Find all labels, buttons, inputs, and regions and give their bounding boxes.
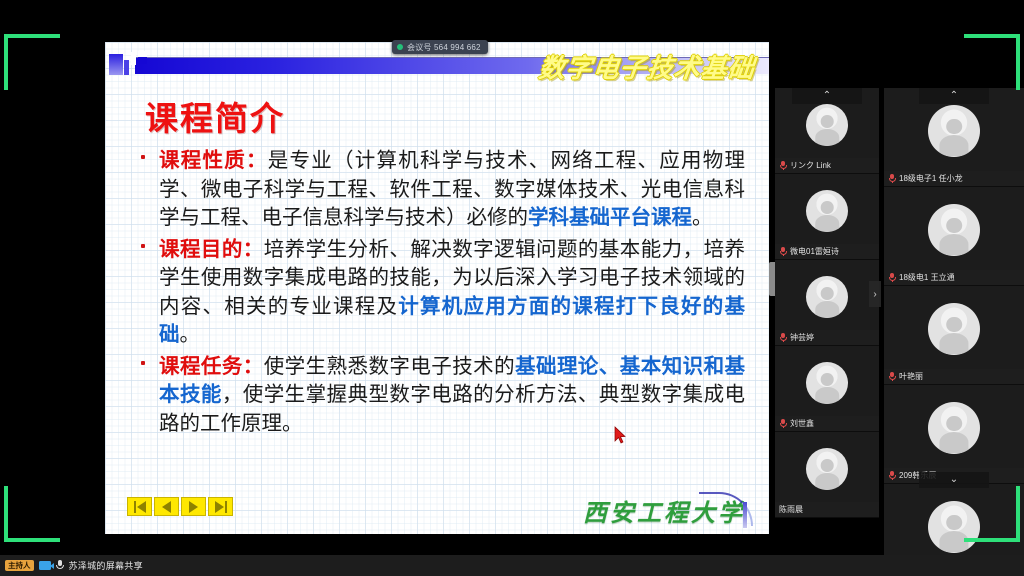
microphone-icon[interactable] [56, 560, 64, 571]
participant-nameplate: 陈雨晨 [775, 502, 879, 517]
bullet-item: 课程性质：是专业（计算机科学与技术、网络工程、应用物理学、微电子科学与工程、软件… [135, 146, 745, 232]
share-frame-corner-top-left [4, 34, 60, 90]
avatar [928, 402, 980, 454]
bullet-item: 课程任务：使学生熟悉数字电子技术的基础理论、基本知识和基本技能，使学生掌握典型数… [135, 352, 745, 438]
participant-strip-right: ⌃ 18级电子1 任小龙 18级电1 王立通 叶艳丽 [884, 88, 1024, 488]
bullet-text: 课程任务：使学生熟悉数字电子技术的基础理论、基本知识和基本技能，使学生掌握典型数… [159, 352, 745, 438]
participant-tile[interactable]: 微电01雷姮诗 [775, 174, 879, 260]
slide-navigation[interactable] [127, 497, 233, 516]
participant-nameplate: 刘世鑫 [775, 416, 879, 431]
meeting-screen-share-window: 会议号 564 994 662 数字电子技术基础 课程简介 课程性质：是专业（计… [0, 0, 1024, 576]
logo-swoosh-bar [743, 502, 747, 528]
scroll-next-button[interactable]: › [869, 281, 881, 307]
participant-tile[interactable]: 刘世鑫 [775, 346, 879, 432]
host-badge: 主持人 [5, 560, 34, 571]
participant-name: 叶艳丽 [899, 371, 923, 382]
participant-tile[interactable]: 18级电1 王立通 [884, 187, 1024, 286]
scroll-up-button[interactable]: ⌃ [792, 88, 862, 104]
participant-name: 微电01雷姮诗 [790, 246, 839, 257]
bullet-dot-icon [141, 244, 145, 248]
participant-tile[interactable]: 209韩乐辰 [884, 385, 1024, 484]
participant-nameplate: 叶艳丽 [884, 369, 1024, 384]
participant-name: リンク Link [790, 160, 831, 171]
microphone-muted-icon [779, 333, 787, 342]
participant-strip-left: ⌃ › リンク Link 微电01雷姮诗 钟芸婷 [775, 88, 879, 478]
share-frame-corner-bottom-left [4, 486, 60, 542]
microphone-muted-icon [779, 161, 787, 170]
avatar [806, 104, 848, 146]
status-bar: 主持人 苏泽城的屏幕共享 [0, 555, 1024, 576]
participant-tile[interactable]: 叶艳丽 [884, 286, 1024, 385]
participant-nameplate: 钟芸婷 [775, 330, 879, 345]
camera-icon[interactable] [39, 561, 51, 570]
participant-name: 18级电子1 任小龙 [899, 173, 963, 184]
meeting-id-pill[interactable]: 会议号 564 994 662 [392, 40, 488, 54]
first-slide-button[interactable] [127, 497, 152, 516]
bullet-dot-icon [141, 155, 145, 159]
avatar [806, 276, 848, 318]
presenter-pointer-icon [613, 426, 627, 444]
avatar [806, 190, 848, 232]
university-logo: 西安工程大学 [583, 493, 745, 528]
participant-name: 18级电1 王立通 [899, 272, 955, 283]
participant-tile[interactable]: 陈雨晨 [775, 432, 879, 518]
participant-tile[interactable]: 钟芸婷 [775, 260, 879, 346]
participant-name: 钟芸婷 [790, 332, 814, 343]
participant-nameplate: 18级电1 王立通 [884, 270, 1024, 285]
share-frame-corner-top-right [964, 34, 1020, 90]
microphone-muted-icon [779, 419, 787, 428]
microphone-muted-icon [888, 372, 896, 381]
avatar [928, 204, 980, 256]
shared-slide: 数字电子技术基础 课程简介 课程性质：是专业（计算机科学与技术、网络工程、应用物… [105, 42, 769, 534]
course-title-wordart: 数字电子技术基础 [537, 48, 757, 85]
previous-slide-button[interactable] [154, 497, 179, 516]
bullet-text: 课程性质：是专业（计算机科学与技术、网络工程、应用物理学、微电子科学与工程、软件… [159, 146, 745, 232]
avatar [806, 448, 848, 490]
microphone-muted-icon [888, 471, 896, 480]
bullet-text: 课程目的：培养学生分析、解决数字逻辑问题的基本能力，培养学生使用数字集成电路的技… [159, 235, 745, 349]
avatar [928, 501, 980, 553]
slide-heading: 课程简介 [145, 92, 285, 140]
participant-nameplate: 18级电子1 任小龙 [884, 171, 1024, 186]
bullet-item: 课程目的：培养学生分析、解决数字逻辑问题的基本能力，培养学生使用数字集成电路的技… [135, 235, 745, 349]
slide-body: 课程性质：是专业（计算机科学与技术、网络工程、应用物理学、微电子科学与工程、软件… [135, 146, 745, 440]
recording-dot-icon [397, 44, 403, 50]
microphone-muted-icon [888, 273, 896, 282]
last-slide-button[interactable] [208, 497, 233, 516]
participant-name: 陈雨晨 [779, 504, 803, 515]
microphone-muted-icon [888, 174, 896, 183]
scroll-down-button[interactable]: ⌄ [919, 472, 989, 488]
participant-name: 刘世鑫 [790, 418, 814, 429]
avatar [928, 105, 980, 157]
screen-share-status-text: 苏泽城的屏幕共享 [69, 559, 143, 572]
avatar [928, 303, 980, 355]
participant-nameplate: 微电01雷姮诗 [775, 244, 879, 259]
participant-nameplate: リンク Link [775, 158, 879, 173]
meeting-id-label: 会议号 564 994 662 [407, 42, 481, 53]
microphone-muted-icon [779, 247, 787, 256]
avatar [806, 362, 848, 404]
scroll-up-button[interactable]: ⌃ [919, 88, 989, 104]
bullet-dot-icon [141, 361, 145, 365]
next-slide-button[interactable] [181, 497, 206, 516]
